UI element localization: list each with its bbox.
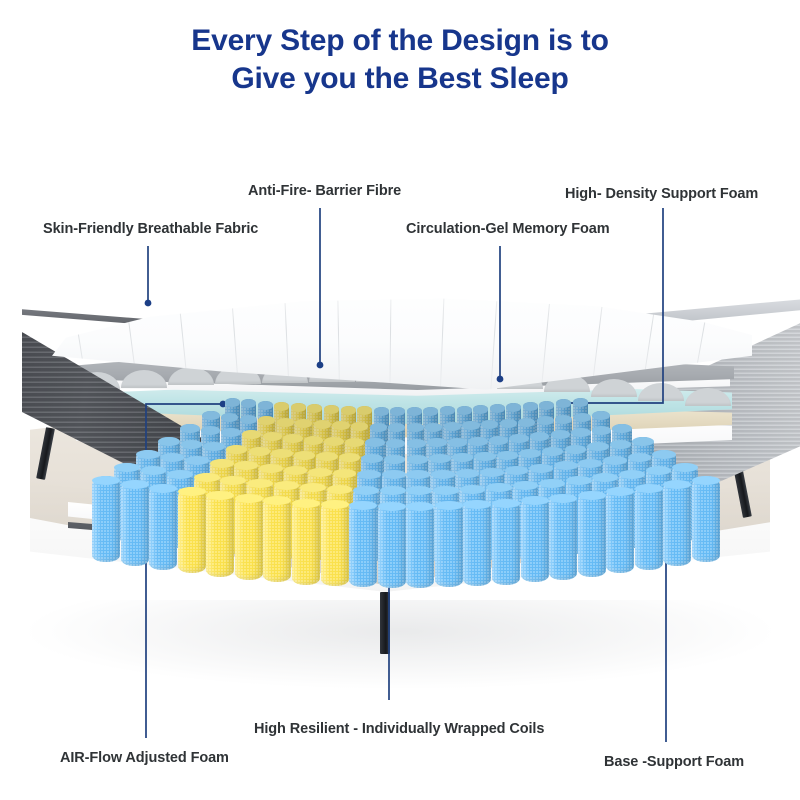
pocket-coil-cap [295,419,312,428]
pocket-coil-cap [365,438,384,447]
pocket-coil-cap [294,451,316,460]
pocket-coil-cap [390,407,405,416]
pocket-coil-cap [462,421,479,430]
pocket-coil-cap [481,420,498,429]
pocket-coil-cap [652,450,676,459]
pocket-coil-blue [521,496,549,582]
pocket-coil-cap [284,466,308,475]
pocket-coil-cap [500,419,517,428]
pocket-coil-cap [592,426,611,435]
callout-label-anti-fire-barrier-fibre: Anti-Fire- Barrier Fibre [248,183,401,199]
pocket-coil-cap [271,449,293,458]
pocket-coil-cap [185,456,209,465]
quilt-stitch [389,270,391,400]
pocket-coil-cap [316,452,338,461]
pocket-coil-cap [332,421,349,430]
pocket-coil-cap [592,473,618,482]
pocket-coil-cap [489,436,508,445]
pocket-coil-cap [505,466,529,475]
pocket-coil-cap [457,406,472,415]
pocket-coil-cap [509,434,528,443]
pocket-coil-cap [542,447,564,456]
pocket-coil-cap [149,484,177,493]
pocket-coil-cap [612,424,631,433]
pocket-coil-cap [473,405,488,414]
pocket-coil-blue [406,502,434,588]
pocket-coil-cap [181,440,203,449]
pocket-coil-cap [480,468,504,477]
pocket-coil-cap [258,416,275,425]
pocket-coil-cap [407,439,426,448]
pocket-coil-cap [406,486,432,495]
pocket-coil-cap [357,406,372,415]
pocket-coil-cap [351,422,368,431]
pocket-coil-cap [378,502,406,511]
pocket-coil-cap [201,426,220,435]
pocket-coil-cap [291,403,306,412]
ground-shadow [20,600,780,690]
pocket-coil-cap [345,438,364,447]
pocket-coil-cap [308,468,332,477]
pocket-coil-cap [529,464,553,473]
mattress-cutaway-illustration [0,0,800,800]
callout-label-high-resilient-individually-wrapped-coils: High Resilient - Individually Wrapped Co… [254,721,544,737]
pocket-coil-cap [225,398,240,407]
pocket-coil-cap [324,437,343,446]
pocket-coil-cap [692,476,720,485]
pocket-coil-cap [530,432,549,441]
pocket-coil-blue [378,502,406,588]
pocket-coil-cap [565,445,587,454]
pocket-coil-cap [423,407,438,416]
pocket-coil-cap [407,423,424,432]
pocket-coil-cap [566,476,592,485]
pocket-coil-cap [167,470,193,479]
pocket-coil-cap [587,442,609,451]
pocket-coil-cap [221,428,240,437]
pocket-coil-cap [304,436,323,445]
pocket-coil-cap [427,438,446,447]
pocket-coil-blue [492,499,520,585]
quilt-stitch [440,270,446,400]
pocket-coil-cap [406,470,430,479]
diagram-canvas: Every Step of the Design is to Give you … [0,0,800,800]
pocket-coil-cap [554,461,578,470]
pocket-coil-cap [158,437,180,446]
pocket-coil-blue [549,494,577,580]
pocket-coil-cap [194,473,220,482]
pocket-coil-cap [388,423,405,432]
pocket-coil-cap [307,404,322,413]
pocket-coil-cap [444,422,461,431]
pocket-coil-cap [259,464,283,473]
pocket-coil-cap [92,476,120,485]
pocket-coil-yellow [206,491,234,577]
pocket-coil-cap [632,437,654,446]
pocket-coil-cap [333,469,357,478]
pocket-coil-cap [497,451,519,460]
pocket-coil-cap [474,452,496,461]
pocket-coil-cap [327,485,353,494]
pocket-coil-cap [357,470,381,479]
pocket-coil-cap [452,453,474,462]
pocket-coil-blue [92,476,120,562]
pocket-coil-cap [578,491,606,500]
pocket-coil-cap [448,438,467,447]
pocket-coil-cap [628,453,652,462]
pocket-coil-blue [663,480,691,566]
pocket-coil-cap [519,449,541,458]
pocket-coil-cap [274,402,289,411]
pocket-coil-cap [539,401,554,410]
fibre-scallop [638,383,684,401]
pocket-coil-cap [521,496,549,505]
pocket-coil-cap [374,407,389,416]
pocket-coil-blue [606,487,634,573]
pocket-coil-blue [692,476,720,562]
pocket-coil-cap [178,487,206,496]
pocket-coil-cap [226,445,248,454]
pocket-coil-cap [349,501,377,510]
pocket-coil-cap [382,470,406,479]
pocket-coil-cap [619,470,645,479]
pocket-coil-cap [370,423,387,432]
pocket-coil-cap [592,411,609,420]
quilt-stitch [540,270,553,400]
pocket-coil-yellow [321,500,349,586]
pocket-coil-cap [513,481,539,490]
pocket-coil-cap [635,484,663,493]
pocket-coil-cap [406,502,434,511]
pocket-coil-cap [610,440,632,449]
pocket-coil-cap [240,415,257,424]
pocket-coil-cap [221,413,238,422]
pocket-coil-cap [429,454,451,463]
pocket-coil-cap [136,450,160,459]
pocket-coil-cap [341,406,356,415]
pocket-coil-cap [425,423,442,432]
pocket-coil-cap [578,459,602,468]
pocket-coil-cap [235,494,263,503]
pocket-coil-cap [321,500,349,509]
pocket-coil-cap [433,486,459,495]
pocket-coil-cap [277,418,294,427]
pocket-coil-cap [121,480,149,489]
pocket-coil-cap [460,485,486,494]
pocket-coil-cap [539,479,565,488]
pocket-coil-cap [324,405,339,414]
pocket-coil-cap [361,454,383,463]
pocket-coil-blue [121,480,149,566]
pocket-coil-cap [672,463,698,472]
pocket-coil-cap [314,420,331,429]
pocket-coil-cap [571,428,590,437]
pocket-coil-blue [463,500,491,586]
pocket-coil-cap [241,399,256,408]
pocket-coil-cap [492,499,520,508]
pocket-coil-cap [249,447,271,456]
pocket-coil-cap [202,411,219,420]
pocket-coil-yellow [178,487,206,573]
pocket-coil-cap [490,404,505,413]
callout-label-circulation-gel-memory-foam: Circulation-Gel Memory Foam [406,221,610,237]
pocket-coil-cap [407,455,429,464]
pocket-coil-blue [578,491,606,577]
pocket-coil-cap [574,413,591,422]
pocket-coil-cap [274,481,300,490]
pocket-coil-blue [349,501,377,587]
pocket-coil-cap [353,486,379,495]
mattress [22,270,778,570]
pocket-coil-cap [220,476,246,485]
pocket-coil-cap [283,434,302,443]
quilt-stitch [490,270,500,400]
pocket-coil-cap [506,403,521,412]
pocket-coil-cap [180,424,199,433]
pocket-coil-cap [486,483,512,492]
pocket-coil-blue [149,484,177,570]
pocket-coil-cap [384,455,406,464]
pocket-coil-cap [210,459,234,468]
pocket-coil-cap [114,463,140,472]
pocket-coil-cap [556,399,571,408]
pocket-coil-cap [440,406,455,415]
pocket-coil-cap [339,453,361,462]
pocket-coil-cap [258,401,273,410]
pocket-coil-cap [300,483,326,492]
pocket-coil-cap [292,499,320,508]
callout-label-skin-friendly-breathable-fabric: Skin-Friendly Breathable Fabric [43,221,258,237]
pocket-coil-cap [431,470,455,479]
fibre-scallop [591,379,637,397]
callout-label-high-density-support-foam: High- Density Support Foam [565,186,758,202]
pocket-coil-blue [435,501,463,587]
pocket-coil-cap [386,439,405,448]
pocket-coil-cap [141,466,167,475]
pocket-coil-cap [203,442,225,451]
callout-label-air-flow-adjusted-foam: AIR-Flow Adjusted Foam [60,750,229,766]
pocket-coil-cap [263,496,291,505]
pocket-coil-yellow [263,496,291,582]
pocket-coil-cap [247,479,273,488]
pocket-coil-cap [549,494,577,503]
pocket-coil-yellow [292,499,320,585]
pocket-coil-cap [380,486,406,495]
pocket-coil-cap [646,466,672,475]
pocket-coil-cap [263,432,282,441]
bed-leg-center [380,592,390,654]
pocket-coil-cap [234,461,258,470]
pocket-coil-cap [242,430,261,439]
pocket-coil-cap [161,453,185,462]
pocket-coil-yellow [235,494,263,580]
pocket-coil-cap [555,415,572,424]
pocket-coil-cap [606,487,634,496]
pocket-coil-blue [635,484,663,570]
pocket-coil-cap [456,469,480,478]
pocket-coil-cap [206,491,234,500]
pocket-coil-cap [603,456,627,465]
pocket-coil-cap [663,480,691,489]
pocket-coil-cap [407,407,422,416]
pocket-coil-cap [537,416,554,425]
pocket-coil-cap [523,402,538,411]
callout-label-base-support-foam: Base -Support Foam [604,754,744,770]
pocket-coil-cap [468,437,487,446]
pocket-coil-cap [463,500,491,509]
fibre-scallop [121,370,167,388]
pocket-coil-cap [435,501,463,510]
pocket-coil-cap [551,430,570,439]
pocket-coil-cap [573,398,588,407]
pocket-coil-cap [518,418,535,427]
